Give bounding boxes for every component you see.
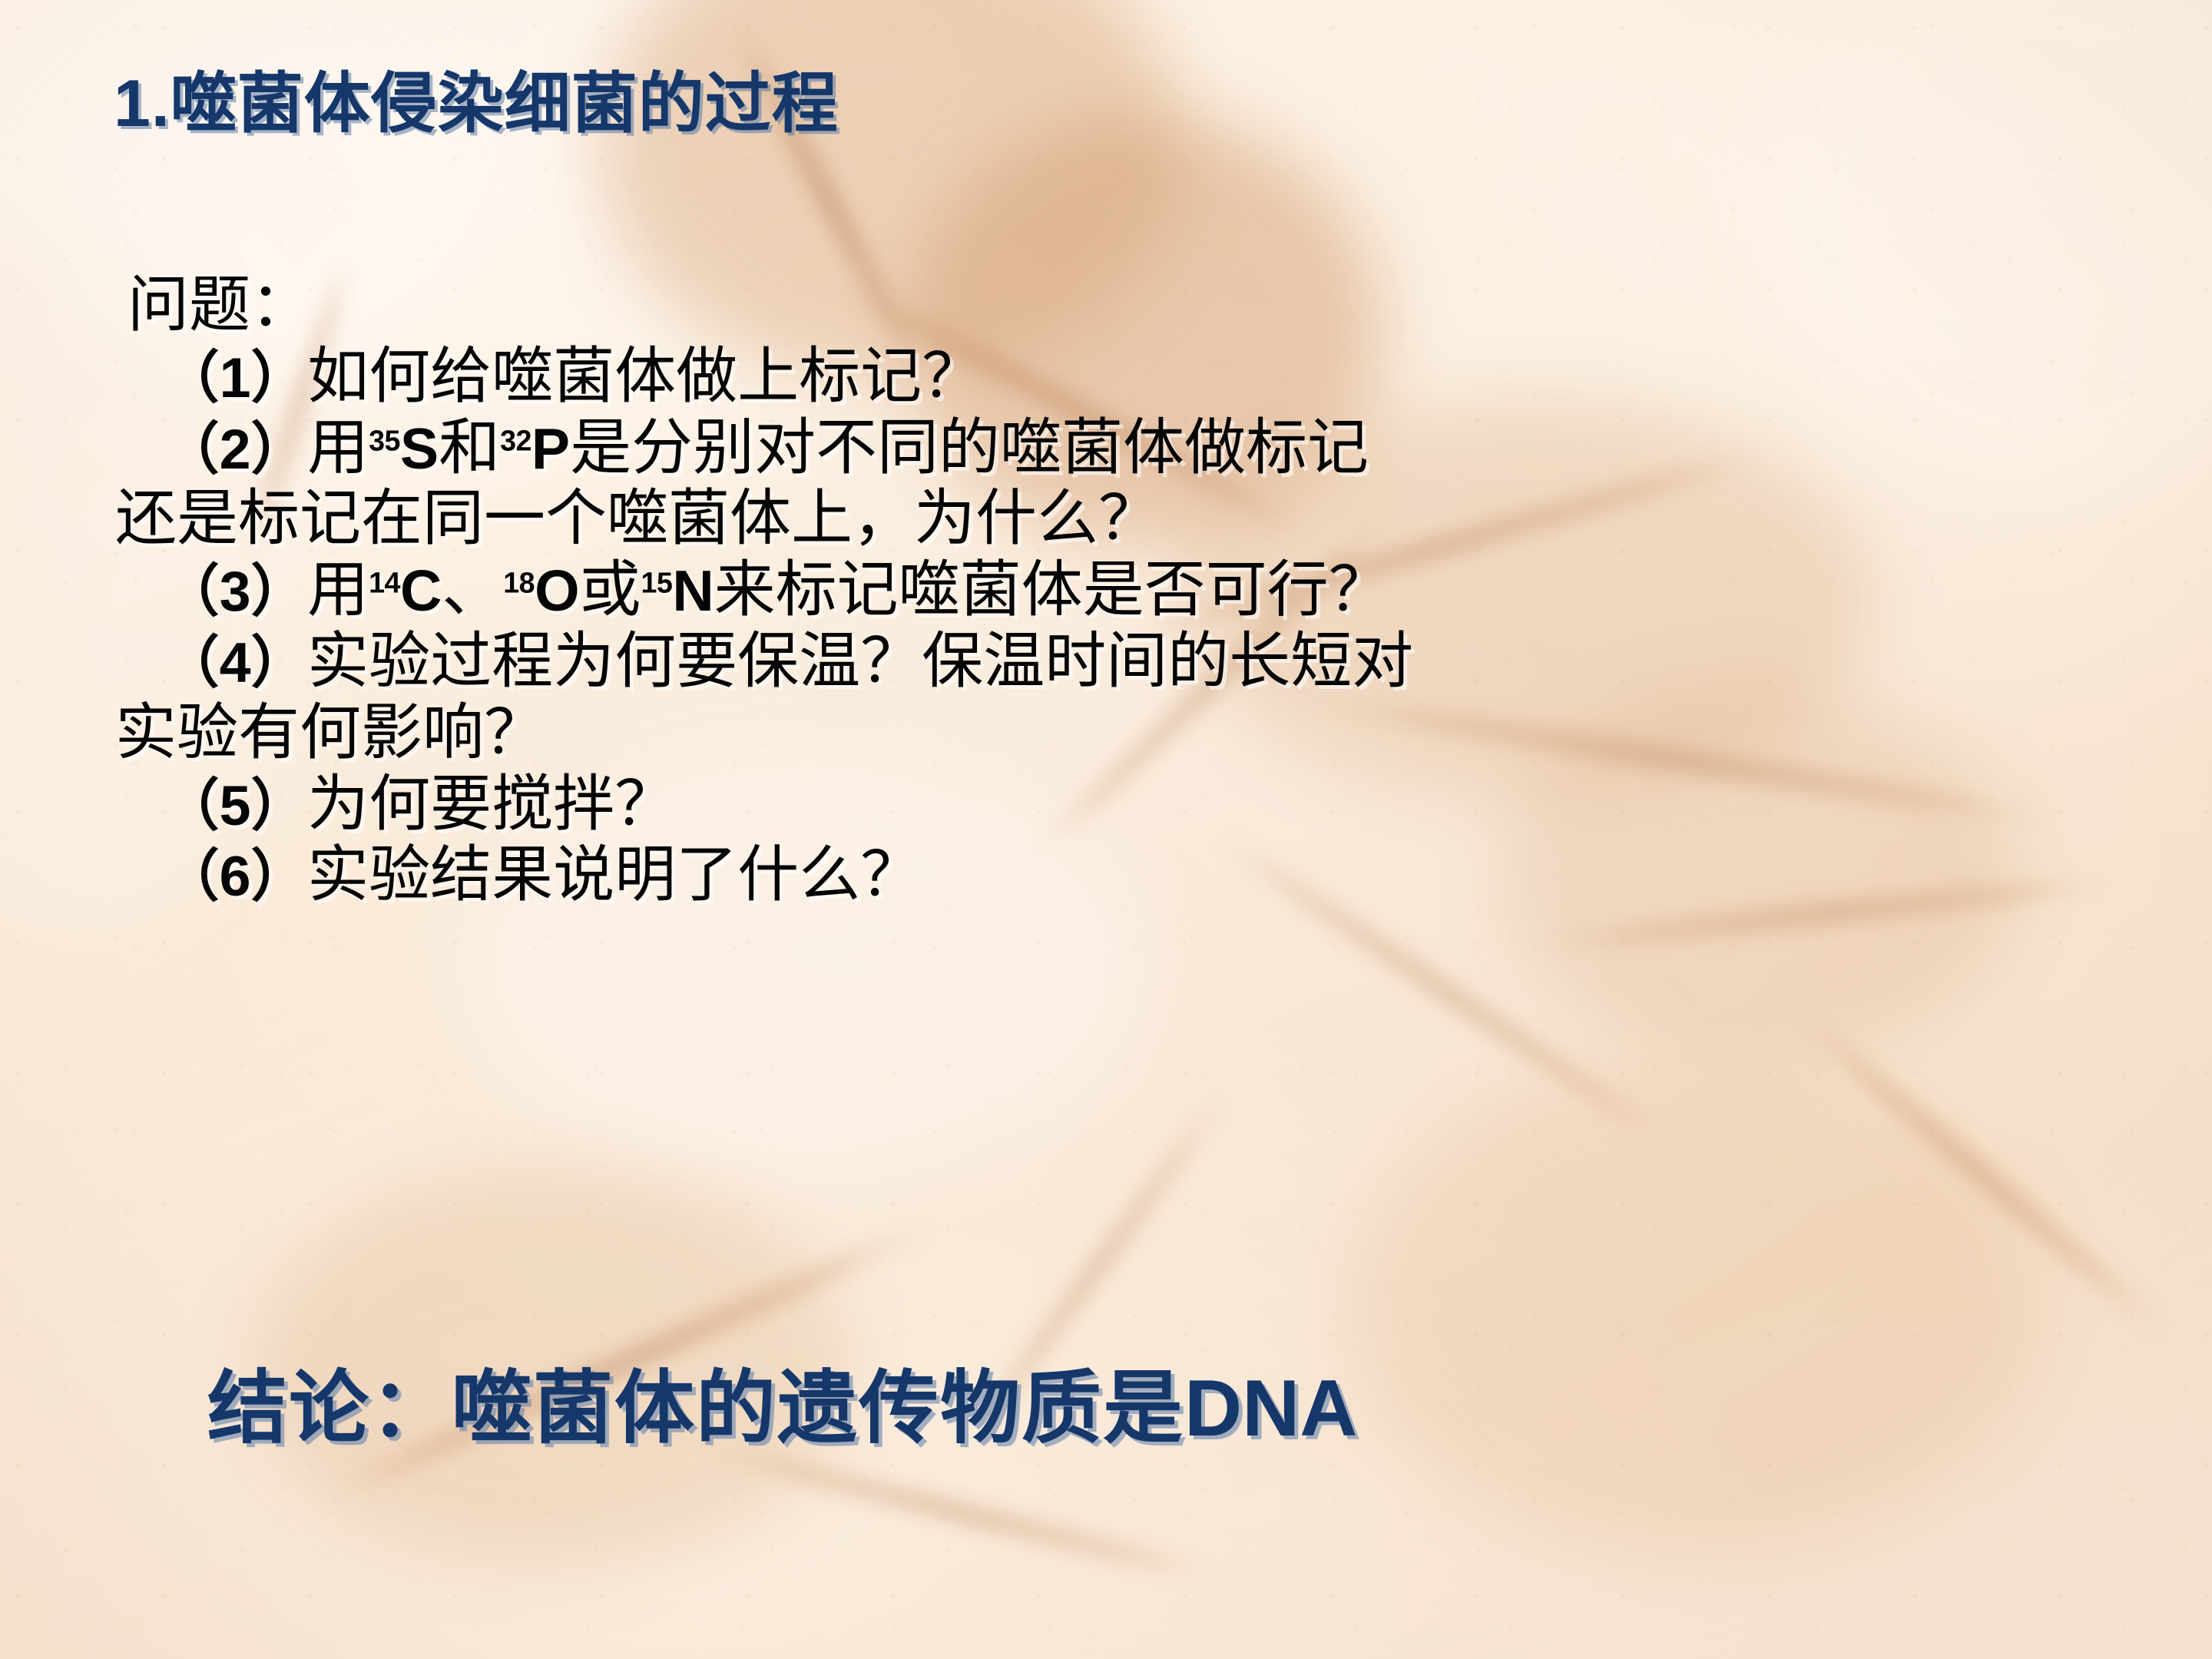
isotope-superscript-35: 35 (369, 424, 400, 456)
question-3-prefix: 用 (307, 557, 369, 624)
isotope-superscript-15: 15 (641, 567, 673, 599)
question-3-separator: 、 (442, 557, 503, 624)
question-item-4-wrap: 实验有何影响？ (115, 698, 2143, 770)
question-4-text: 实验过程为何要保温？保温时间的长短对 (307, 628, 1413, 696)
isotope-superscript-14: 14 (369, 567, 400, 599)
element-symbol-oxygen: O (535, 558, 579, 623)
question-2-number: （2） (163, 417, 307, 481)
question-item-2-wrap: 还是标记在同一个噬菌体上，为什么？ (115, 484, 2143, 555)
conclusion-text: 噬菌体的遗传物质是 (452, 1364, 1184, 1453)
question-item-6: （6）实验结果说明了什么？ (163, 840, 2143, 912)
slide-title: 1.噬菌体侵染细菌的过程 (114, 71, 839, 137)
questions-body: 问题： （1）如何给噬菌体做上标记？ （2）用35S和32P是分别对不同的噬菌体… (115, 270, 2143, 912)
question-item-5: （5）为何要搅拌？ (163, 770, 2143, 841)
slide-content: 1.噬菌体侵染细菌的过程 问题： （1）如何给噬菌体做上标记？ （2）用35S和… (0, 0, 2212, 1659)
element-symbol-nitrogen: N (672, 558, 714, 623)
question-1-text: 如何给噬菌体做上标记？ (307, 343, 983, 411)
question-5-text: 为何要搅拌？ (307, 771, 676, 839)
conclusion-line: 结论：噬菌体的遗传物质是DNA (207, 1369, 1357, 1449)
question-3-suffix: 来标记噬菌体是否可行？ (714, 557, 1390, 624)
question-2-suffix: 是分别对不同的噬菌体做标记 (570, 415, 1369, 482)
presentation-slide: 1.噬菌体侵染细菌的过程 问题： （1）如何给噬菌体做上标记？ （2）用35S和… (0, 0, 2212, 1659)
question-3-number: （3） (163, 559, 307, 623)
conclusion-label: 结论： (207, 1364, 452, 1453)
question-4-number: （4） (163, 631, 307, 694)
question-6-number: （6） (163, 844, 307, 908)
question-5-number: （5） (163, 773, 307, 837)
question-item-1: （1）如何给噬菌体做上标记？ (163, 342, 2143, 413)
element-symbol-carbon: C (400, 558, 442, 623)
element-symbol-sulfur: S (400, 416, 439, 481)
questions-heading: 问题： (127, 270, 2143, 342)
question-3-conjunction: 或 (580, 557, 641, 624)
question-1-number: （1） (163, 346, 307, 409)
question-2-prefix: 用 (307, 415, 369, 482)
question-item-2: （2）用35S和32P是分别对不同的噬菌体做标记 (163, 413, 2143, 485)
element-symbol-phosphorus: P (531, 416, 570, 481)
isotope-superscript-18: 18 (503, 567, 535, 599)
conclusion-highlight-dna: DNA (1184, 1364, 1357, 1453)
question-6-text: 实验结果说明了什么？ (307, 842, 922, 909)
question-item-4: （4）实验过程为何要保温？保温时间的长短对 (163, 627, 2143, 698)
isotope-superscript-32: 32 (500, 424, 531, 456)
question-item-3: （3）用14C、18O或15N来标记噬菌体是否可行？ (163, 555, 2143, 627)
question-2-conjunction: 和 (439, 415, 500, 482)
